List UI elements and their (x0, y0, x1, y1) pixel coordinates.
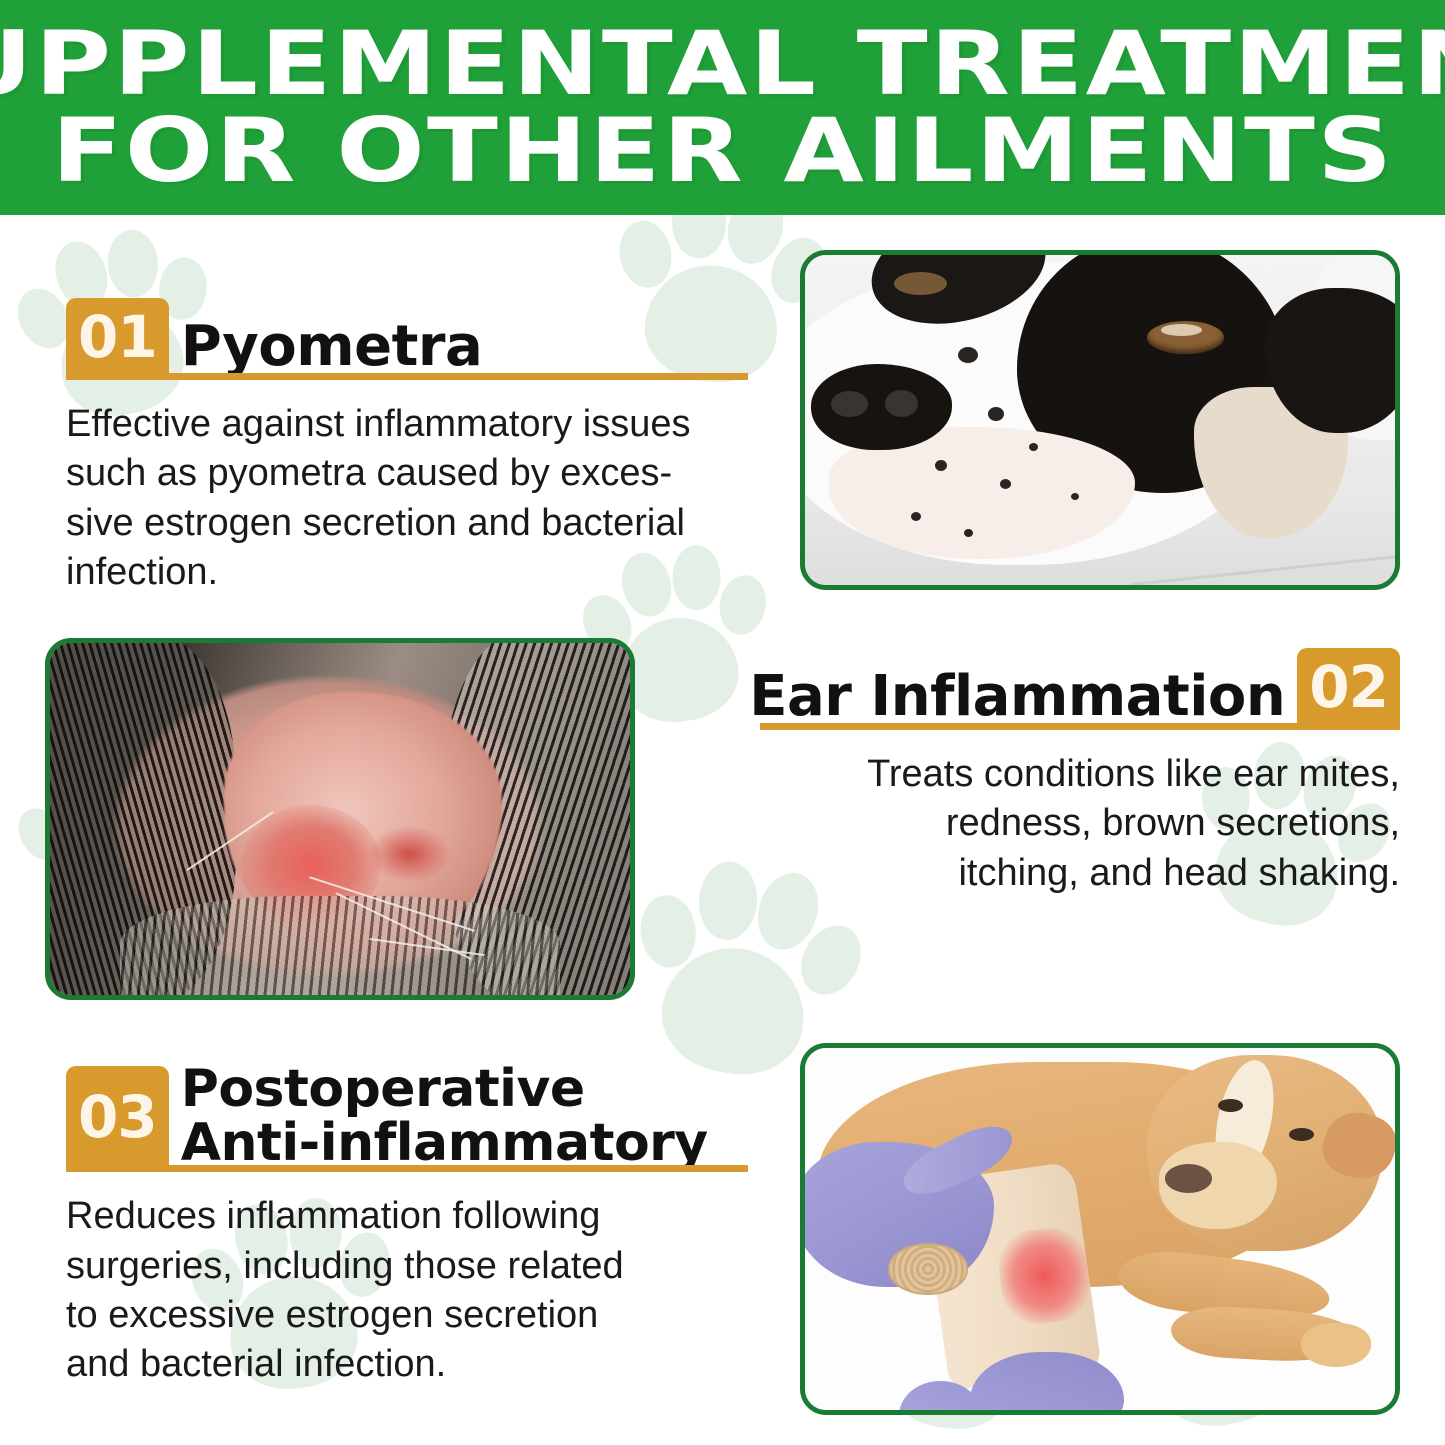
section-02-title: Ear Inflammation (743, 668, 1297, 728)
section-03-title: Postoperative Anti-inflammatory (169, 1062, 714, 1170)
section-03-number-badge: 03 (66, 1066, 169, 1170)
infographic-page: SUPPLEMENTAL TREATMENT FOR OTHER AILMENT… (0, 0, 1445, 1445)
section-01-body: Effective against inflammatory issues su… (66, 400, 706, 598)
section-01-number-badge: 01 (66, 298, 169, 378)
section-02: Ear Inflammation 02 Treats conditions li… (760, 648, 1400, 898)
photo-pyometra-dog (800, 250, 1400, 590)
section-02-number-badge: 02 (1297, 648, 1400, 728)
photo-inflamed-ear (45, 638, 635, 1000)
content-area: 01 Pyometra Effective against inflammato… (0, 0, 1445, 1445)
section-01-heading-row: 01 Pyometra (66, 298, 706, 378)
section-03: 03 Postoperative Anti-inflammatory Reduc… (66, 1062, 706, 1390)
photo-postoperative-care (800, 1043, 1400, 1415)
section-03-heading-row: 03 Postoperative Anti-inflammatory (66, 1062, 706, 1170)
section-03-body: Reduces inflammation following surgeries… (66, 1192, 706, 1390)
section-02-heading-row: Ear Inflammation 02 (760, 648, 1400, 728)
section-01-title: Pyometra (169, 318, 489, 378)
section-01: 01 Pyometra Effective against inflammato… (66, 298, 706, 598)
section-02-body: Treats conditions like ear mites, rednes… (760, 750, 1400, 898)
